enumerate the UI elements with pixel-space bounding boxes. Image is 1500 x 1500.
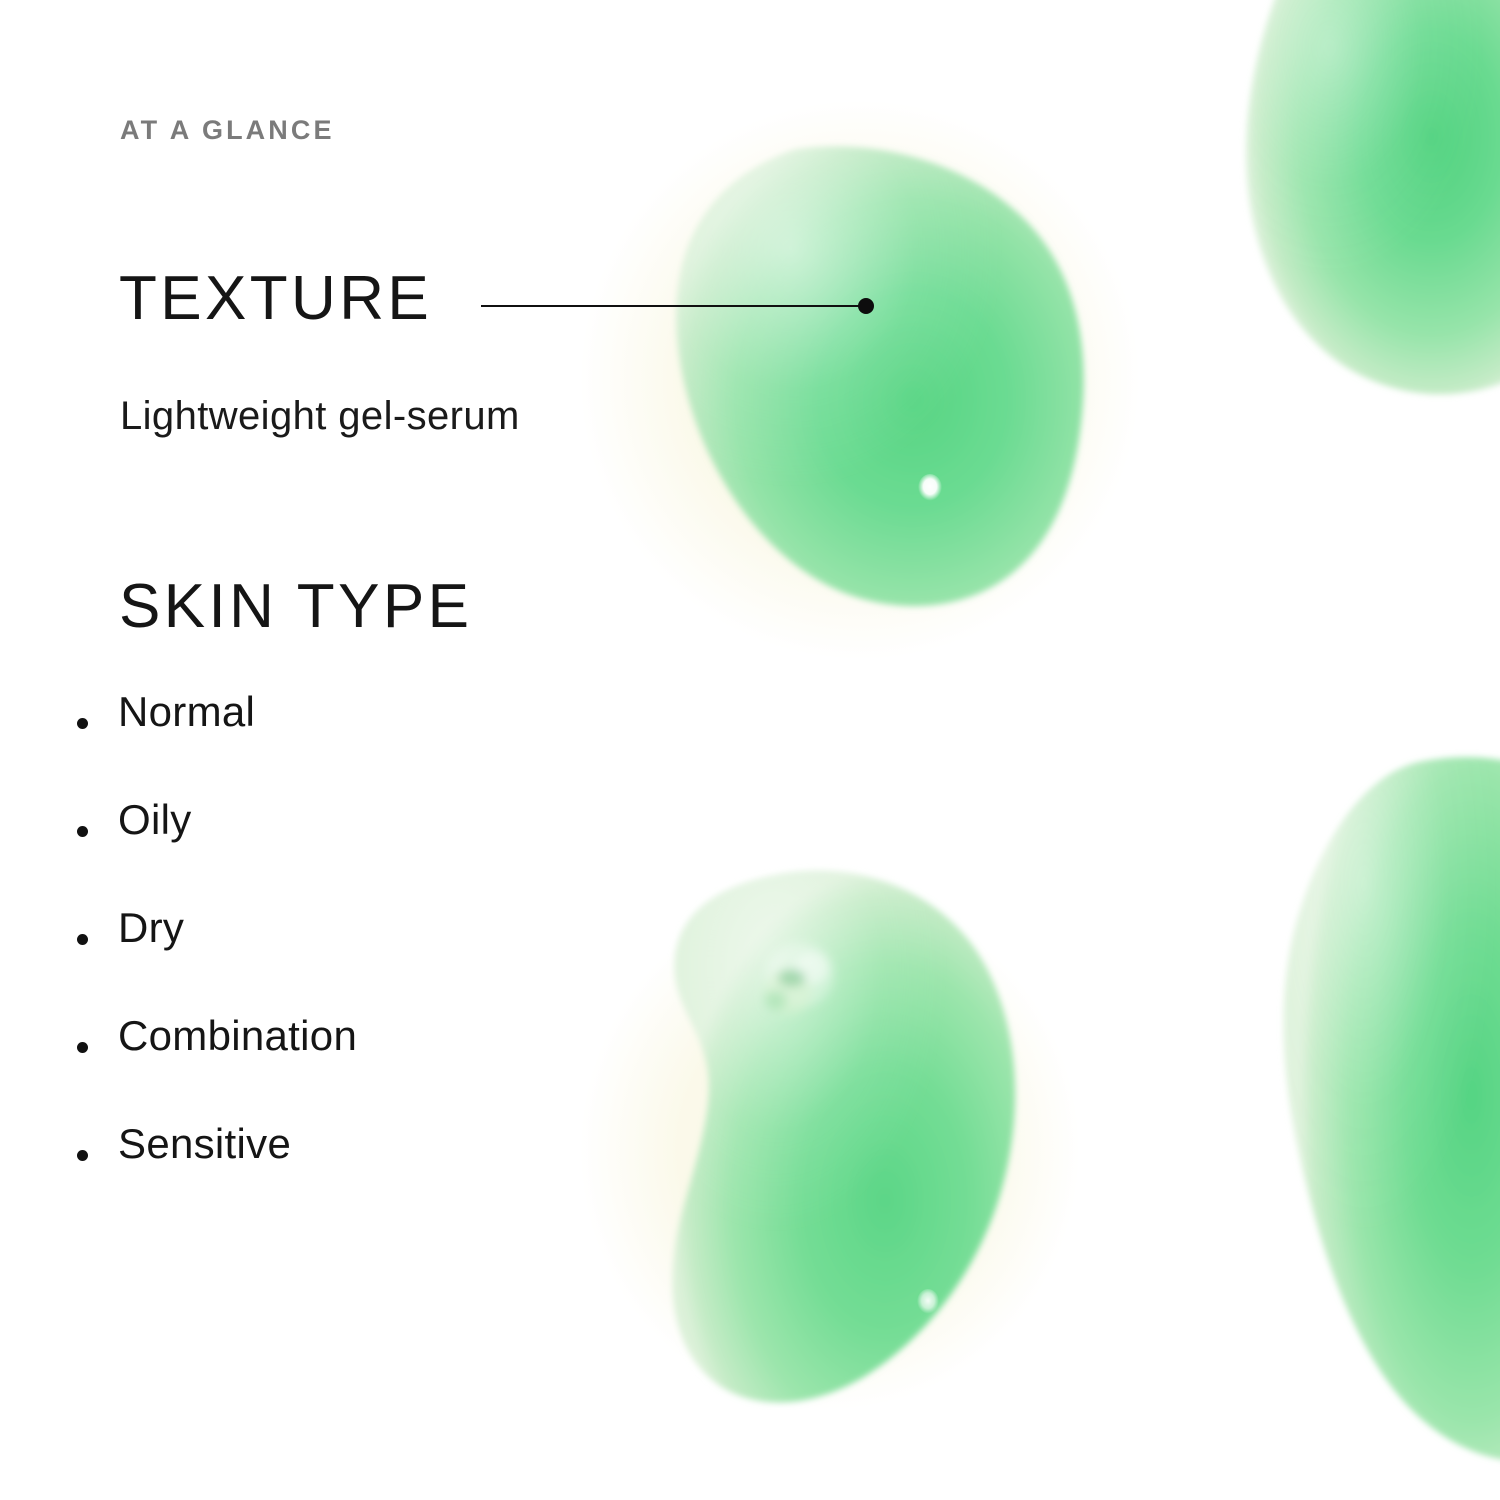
texture-value: Lightweight gel-serum (120, 396, 520, 436)
list-item: Sensitive (0, 1122, 620, 1230)
infographic-canvas: AT A GLANCE TEXTURE Lightweight gel-seru… (0, 0, 1500, 1500)
bullet-dot-icon (77, 1042, 88, 1053)
list-item: Oily (0, 798, 620, 906)
texture-leader-line (481, 305, 867, 307)
skin-type-label: Dry (118, 906, 184, 951)
panel-eyebrow-label: AT A GLANCE (120, 117, 335, 144)
bullet-dot-icon (77, 934, 88, 945)
bubble-highlight (918, 474, 942, 502)
skin-type-heading: SKIN TYPE (119, 576, 472, 638)
gel-droplet-top-right (1246, 0, 1500, 394)
skin-type-list: Normal Oily Dry Combination Sensitive (0, 690, 620, 1230)
list-item: Dry (0, 906, 620, 1014)
bullet-dot-icon (77, 826, 88, 837)
skin-type-label: Oily (118, 798, 192, 843)
texture-leader-dot-icon (858, 298, 874, 314)
bubble-highlight (917, 1289, 939, 1315)
skin-type-label: Combination (118, 1014, 357, 1059)
gel-droplet-main (676, 147, 1083, 606)
bullet-dot-icon (77, 718, 88, 729)
skin-type-label: Sensitive (118, 1122, 291, 1167)
list-item: Combination (0, 1014, 620, 1122)
at-a-glance-panel: AT A GLANCE TEXTURE Lightweight gel-seru… (0, 0, 660, 1500)
swirl-detail (764, 943, 834, 1014)
gel-droplet-bottom-center (673, 871, 1016, 1402)
texture-heading: TEXTURE (119, 268, 432, 330)
list-item: Normal (0, 690, 620, 798)
skin-type-label: Normal (118, 690, 255, 735)
gel-droplet-right-lower (1284, 757, 1500, 1462)
bullet-dot-icon (77, 1150, 88, 1161)
